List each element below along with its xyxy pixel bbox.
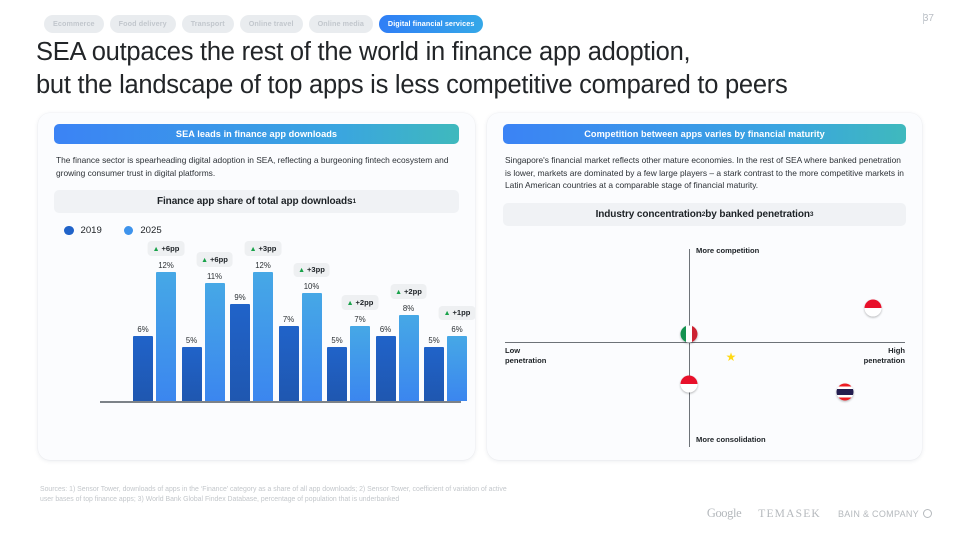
- bar-value-label: 9%: [234, 293, 245, 302]
- bar-group: 5%6%▲+1pp: [422, 261, 473, 401]
- bar-2019: [182, 347, 202, 401]
- bar-value-label: 10%: [304, 282, 320, 291]
- bar-group: 5%7%▲+2pp: [325, 261, 376, 401]
- bar-chart: 6%12%▲+6pp5%11%▲+6pp9%12%▲+3pp7%10%▲+3pp…: [38, 261, 475, 421]
- google-logo: Google: [707, 506, 741, 521]
- bar-delta-value: +6pp: [162, 244, 180, 253]
- scatter-label-low-penetration: Lowpenetration: [505, 346, 546, 365]
- triangle-up-icon: ▲: [153, 246, 160, 253]
- bar-delta-badge: ▲+1pp: [439, 306, 476, 321]
- bar-2019: [376, 336, 396, 401]
- bar-delta-value: +3pp: [307, 265, 325, 274]
- bar-2019: [327, 347, 347, 401]
- bar-2025: [399, 315, 419, 401]
- headline-line-1: SEA outpaces the rest of the world in fi…: [36, 36, 926, 69]
- scatter-point-mexico: [681, 326, 698, 343]
- bar-value-label: 12%: [255, 261, 271, 270]
- scatter-x-axis: [505, 342, 905, 343]
- bar-value-label: 11%: [207, 272, 222, 281]
- bar-value-label: 7%: [354, 315, 365, 324]
- bar-delta-value: +2pp: [356, 298, 374, 307]
- category-pill-digital-financial-services[interactable]: Digital financial services: [379, 15, 484, 33]
- triangle-up-icon: ▲: [395, 289, 402, 296]
- bar-group: 6%8%▲+2pp: [374, 261, 425, 401]
- bar-2025: [302, 293, 322, 401]
- bar-delta-value: +3pp: [259, 244, 277, 253]
- bar-value-label: 5%: [331, 336, 342, 345]
- scatter-point-indonesia: [681, 375, 698, 392]
- category-pill-nav[interactable]: EcommerceFood deliveryTransportOnline tr…: [44, 15, 483, 33]
- temasek-logo: TEMASEK: [758, 508, 821, 520]
- bar-group: 6%12%▲+6pp: [131, 261, 182, 401]
- bar-delta-value: +6pp: [210, 255, 228, 264]
- left-card-title: SEA leads in finance app downloads: [54, 124, 459, 144]
- triangle-up-icon: ▲: [298, 267, 305, 274]
- scatter-label-high-penetration: Highpenetration: [845, 346, 905, 365]
- page-number-divider: [923, 13, 924, 24]
- right-card: Competition between apps varies by finan…: [487, 113, 922, 460]
- category-pill-ecommerce[interactable]: Ecommerce: [44, 15, 104, 33]
- category-pill-transport[interactable]: Transport: [182, 15, 234, 33]
- page-number-value: 37: [923, 13, 934, 24]
- bar-delta-badge: ▲+3pp: [245, 241, 282, 256]
- legend-label: 2019: [81, 225, 102, 236]
- bar-delta-badge: ▲+6pp: [148, 241, 185, 256]
- triangle-up-icon: ▲: [444, 310, 451, 317]
- bain-logo-text: BAIN & COMPANY: [838, 509, 919, 519]
- page-title: SEA outpaces the rest of the world in fi…: [36, 36, 926, 103]
- bain-logo: BAIN & COMPANY: [838, 509, 932, 519]
- bar-delta-value: +2pp: [404, 287, 422, 296]
- bar-value-label: 6%: [137, 325, 148, 334]
- bar-2019: [279, 326, 299, 401]
- bar-chart-title-footnote: 1: [352, 198, 356, 205]
- scatter-chart: More competition More consolidation Lowp…: [495, 241, 915, 453]
- legend-item-2025: 2025: [124, 225, 162, 236]
- legend-item-2019: 2019: [64, 225, 102, 236]
- left-card-blurb: The finance sector is spearheading digit…: [56, 154, 457, 179]
- bar-group: 9%12%▲+3pp: [228, 261, 279, 401]
- category-pill-online-media[interactable]: Online media: [309, 15, 373, 33]
- scatter-chart-title: Industry concentration2 by banked penetr…: [503, 203, 906, 226]
- bar-value-label: 5%: [428, 336, 439, 345]
- legend-label: 2025: [140, 225, 161, 236]
- bar-value-label: 6%: [380, 325, 391, 334]
- bar-value-label: 8%: [403, 304, 414, 313]
- sources-note: Sources: 1) Sensor Tower, downloads of a…: [40, 485, 510, 506]
- category-pill-food-delivery[interactable]: Food delivery: [110, 15, 176, 33]
- bar-chart-legend: 20192025: [64, 225, 475, 236]
- bar-2025: [253, 272, 273, 401]
- brand-logos: Google TEMASEK BAIN & COMPANY: [707, 506, 932, 521]
- bar-chart-axis: [100, 401, 461, 403]
- bar-chart-title-text: Finance app share of total app downloads: [157, 196, 352, 207]
- scatter-y-axis: [689, 249, 690, 447]
- bar-value-label: 5%: [186, 336, 197, 345]
- legend-swatch-icon: [124, 226, 134, 236]
- category-pill-online-travel[interactable]: Online travel: [240, 15, 303, 33]
- slide-root: EcommerceFood deliveryTransportOnline tr…: [0, 0, 960, 540]
- bain-mark-icon: [923, 509, 932, 518]
- bar-2025: [205, 283, 225, 401]
- right-card-blurb: Singapore's financial market reflects ot…: [505, 154, 904, 192]
- scatter-title-part-a: Industry concentration: [596, 209, 702, 220]
- scatter-title-footnote-b: 3: [810, 211, 814, 218]
- bar-chart-plot: 6%12%▲+6pp5%11%▲+6pp9%12%▲+3pp7%10%▲+3pp…: [116, 261, 456, 401]
- scatter-point-singapore: [865, 300, 882, 317]
- headline-line-2: but the landscape of top apps is less co…: [36, 69, 926, 102]
- bar-value-label: 6%: [451, 325, 462, 334]
- bar-group: 5%11%▲+6pp: [180, 261, 231, 401]
- scatter-point-thailand: [837, 383, 854, 400]
- triangle-up-icon: ▲: [201, 257, 208, 264]
- scatter-title-part-b: by banked penetration: [705, 209, 810, 220]
- triangle-up-icon: ▲: [250, 246, 257, 253]
- bar-2025: [447, 336, 467, 401]
- bar-chart-title: Finance app share of total app downloads…: [54, 190, 459, 213]
- bar-2019: [424, 347, 444, 401]
- right-card-title: Competition between apps varies by finan…: [503, 124, 906, 144]
- bar-value-label: 7%: [283, 315, 294, 324]
- bar-value-label: 12%: [158, 261, 174, 270]
- left-card: SEA leads in finance app downloads The f…: [38, 113, 475, 460]
- bar-group: 7%10%▲+3pp: [277, 261, 328, 401]
- page-number: 37: [923, 13, 934, 24]
- scatter-label-more-competition: More competition: [696, 246, 759, 255]
- bar-2019: [230, 304, 250, 401]
- triangle-up-icon: ▲: [347, 300, 354, 307]
- bar-2025: [156, 272, 176, 401]
- bar-2025: [350, 326, 370, 401]
- legend-swatch-icon: [64, 226, 74, 236]
- bar-2019: [133, 336, 153, 401]
- scatter-label-more-consolidation: More consolidation: [696, 435, 766, 444]
- bar-delta-value: +1pp: [453, 308, 471, 317]
